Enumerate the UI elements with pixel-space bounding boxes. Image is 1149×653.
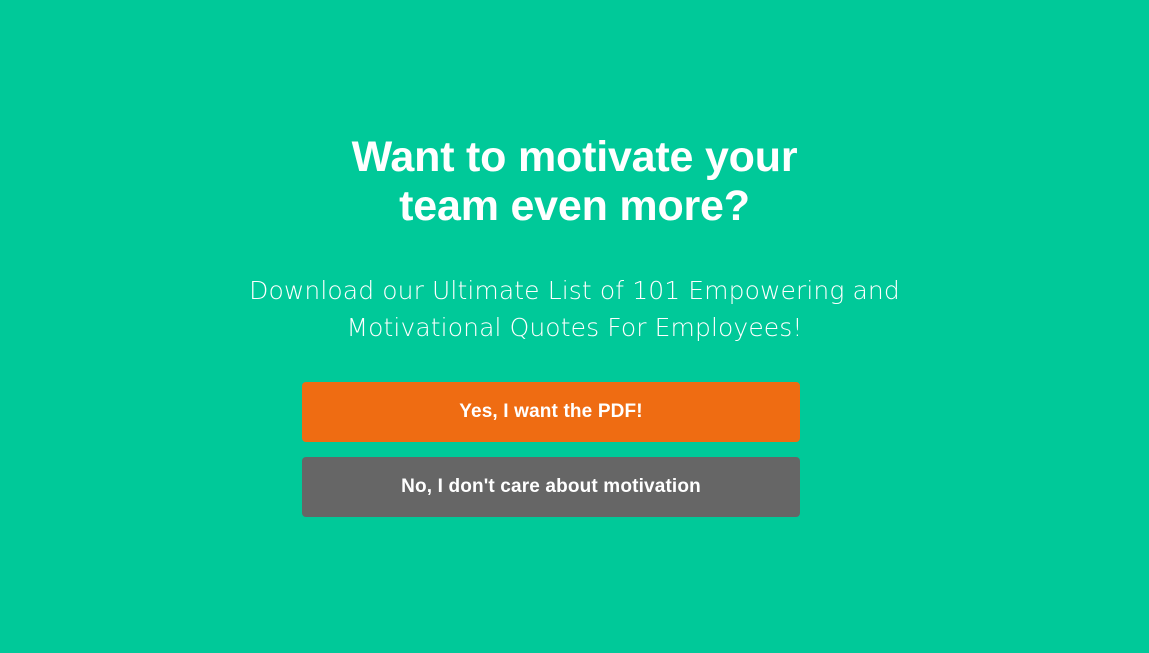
- decline-button[interactable]: No, I don't care about motivation: [302, 457, 800, 517]
- download-pdf-button[interactable]: Yes, I want the PDF!: [302, 382, 800, 442]
- cta-button-group: Yes, I want the PDF! No, I don't care ab…: [302, 382, 800, 517]
- cta-banner: Want to motivate your team even more? Do…: [0, 0, 1149, 653]
- cta-heading: Want to motivate your team even more?: [0, 133, 1149, 231]
- cta-subheading: Download our Ultimate List of 101 Empowe…: [0, 272, 1149, 346]
